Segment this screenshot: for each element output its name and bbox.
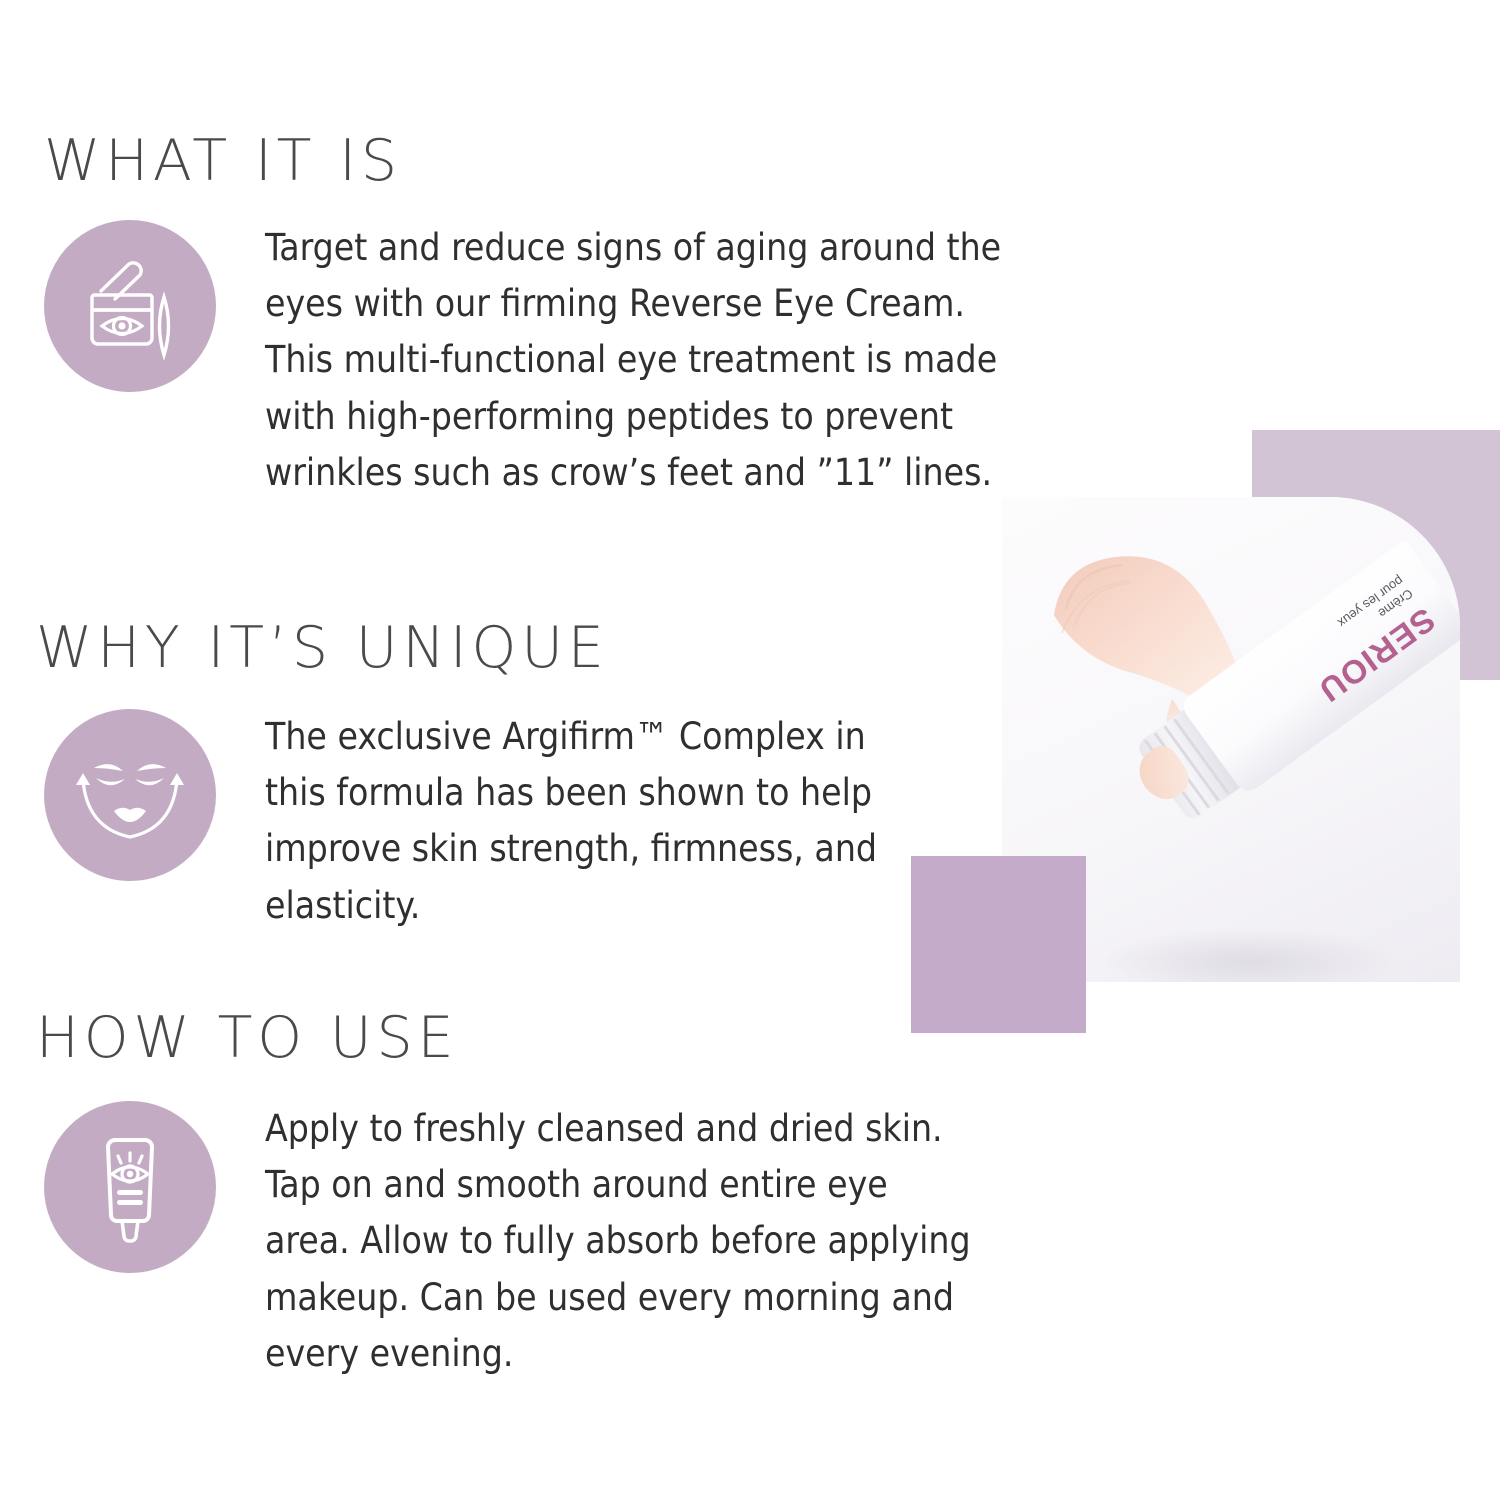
section-heading-what-it-is: WHAT IT IS <box>44 128 1010 194</box>
eye-cream-tube-icon <box>74 1129 186 1245</box>
section-body-why-its-unique: The exclusive Argifirm™ Complex in this … <box>265 709 905 934</box>
section-heading-how-to-use: HOW TO USE <box>36 1005 1010 1071</box>
section-row-how-to-use: Apply to freshly cleansed and dried skin… <box>0 1101 1010 1421</box>
product-photo-collage: SERIOU Crème pour les yeux <box>890 410 1500 1050</box>
eye-cream-jar-icon <box>74 250 186 362</box>
section-why-its-unique: WHY IT’S UNIQUE <box>0 615 1010 959</box>
section-body-how-to-use: Apply to freshly cleansed and dried skin… <box>265 1101 975 1382</box>
section-row-what-it-is: Target and reduce signs of aging around … <box>0 220 1010 620</box>
lifted-face-icon <box>70 735 190 855</box>
section-how-to-use: HOW TO USE <box>0 1005 1010 1421</box>
eye-cream-tube-icon-badge <box>44 1101 216 1273</box>
lifted-face-icon-badge <box>44 709 216 881</box>
mauve-square-bottom-left <box>911 856 1086 1033</box>
infographic-root: WHAT IT IS <box>0 0 1500 1500</box>
eye-cream-jar-icon-badge <box>44 220 216 392</box>
section-what-it-is: WHAT IT IS <box>0 128 1010 620</box>
section-row-why-its-unique: The exclusive Argifirm™ Complex in this … <box>0 709 1010 959</box>
section-heading-why-its-unique: WHY IT’S UNIQUE <box>36 615 1010 681</box>
tube-shadow <box>1098 927 1398 982</box>
